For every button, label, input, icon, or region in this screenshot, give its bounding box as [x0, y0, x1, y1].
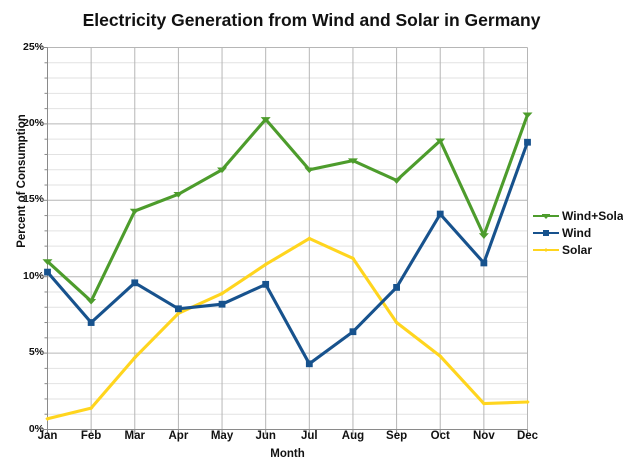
legend-label: Wind+Solar — [559, 209, 623, 223]
chart-container: Electricity Generation from Wind and Sol… — [0, 0, 623, 467]
x-axis-tick-label-jun: Jun — [242, 430, 290, 442]
x-axis-tick-label-mar: Mar — [111, 430, 159, 442]
legend-swatch-square-icon — [533, 226, 559, 240]
data-point — [175, 305, 182, 312]
data-point — [306, 360, 313, 367]
data-point — [524, 139, 531, 146]
legend-item-wind-plus-solar[interactable]: Wind+Solar — [533, 207, 623, 224]
y-axis-ticks — [43, 48, 48, 430]
plot-area — [0, 0, 623, 467]
legend-marker-square-icon — [542, 229, 550, 237]
x-axis-tick-label-nov: Nov — [460, 430, 508, 442]
data-point — [131, 279, 138, 286]
data-point — [480, 260, 487, 267]
legend-item-solar[interactable]: Solar — [533, 241, 623, 258]
x-axis-tick-label-may: May — [198, 430, 246, 442]
legend-swatch-diamond-icon — [533, 243, 559, 257]
x-axis-tick-label-feb: Feb — [67, 430, 115, 442]
legend-label: Solar — [559, 243, 592, 257]
x-axis-tick-label-apr: Apr — [154, 430, 202, 442]
x-axis-tick-label-sep: Sep — [373, 430, 421, 442]
x-axis-tick-label-jul: Jul — [285, 430, 333, 442]
x-axis-tick-label-dec: Dec — [504, 430, 552, 442]
data-point — [44, 269, 51, 276]
data-point — [393, 284, 400, 291]
data-point — [350, 328, 357, 335]
data-point — [437, 211, 444, 218]
x-axis-tick-label-oct: Oct — [416, 430, 464, 442]
data-point — [219, 301, 226, 308]
x-axis-tick-label-jan: Jan — [24, 430, 72, 442]
legend-marker-triangle-down-icon — [542, 212, 550, 220]
data-point — [262, 281, 269, 288]
chart-legend: Wind+SolarWindSolar — [533, 207, 623, 258]
data-point — [88, 319, 95, 326]
legend-marker-diamond-icon — [542, 246, 550, 254]
legend-item-wind[interactable]: Wind — [533, 224, 623, 241]
legend-label: Wind — [559, 226, 591, 240]
x-axis-tick-label-aug: Aug — [329, 430, 377, 442]
legend-swatch-triangle-down-icon — [533, 209, 559, 223]
